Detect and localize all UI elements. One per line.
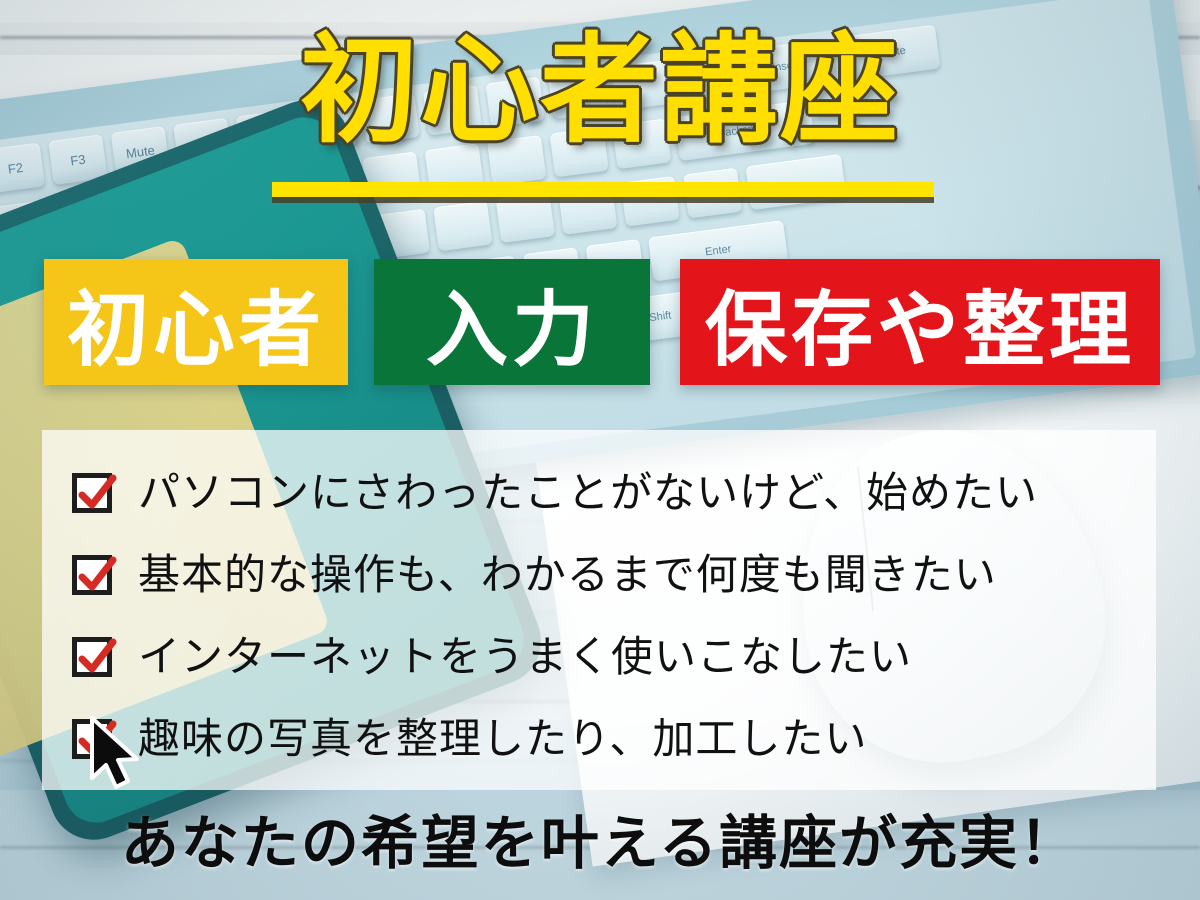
checklist-item-4[interactable]: 趣味の写真を整理したり、加工したい xyxy=(72,698,1152,780)
badge-beginner-label: 初心者 xyxy=(67,263,325,382)
badge-save-organize-label: 保存や整理 xyxy=(705,263,1135,382)
checkbox-checked-icon[interactable] xyxy=(72,473,112,513)
checklist-item-label: 趣味の写真を整理したり、加工したい xyxy=(138,718,867,760)
checklist: パソコンにさわったことがないけど、始めたい 基本的な操作も、わかるまで何度も聞き… xyxy=(72,452,1152,780)
checkbox-checked-icon[interactable] xyxy=(72,637,112,677)
checklist-item-1[interactable]: パソコンにさわったことがないけど、始めたい xyxy=(72,452,1152,534)
checklist-item-label: パソコンにさわったことがないけど、始めたい xyxy=(138,472,1038,514)
badge-input[interactable]: 入力 xyxy=(374,259,650,385)
checklist-item-2[interactable]: 基本的な操作も、わかるまで何度も聞きたい xyxy=(72,534,1152,616)
page-title: 初心者講座 xyxy=(300,28,900,153)
badge-row: 初心者 入力 保存や整理 xyxy=(0,259,1200,385)
checkbox-checked-icon[interactable] xyxy=(72,719,112,759)
badge-beginner[interactable]: 初心者 xyxy=(44,259,348,385)
title-block: 初心者講座 xyxy=(0,28,1200,153)
title-underline-bar xyxy=(272,182,934,197)
badge-input-label: 入力 xyxy=(426,263,598,382)
checklist-item-3[interactable]: インターネットをうまく使いこなしたい xyxy=(72,616,1152,698)
checklist-item-label: 基本的な操作も、わかるまで何度も聞きたい xyxy=(138,554,997,596)
poster-canvas: F1 F2 F3 Mute Insert Delete xyxy=(0,0,1200,900)
checklist-item-label: インターネットをうまく使いこなしたい xyxy=(138,636,912,678)
badge-save-organize[interactable]: 保存や整理 xyxy=(680,259,1160,385)
checkbox-checked-icon[interactable] xyxy=(72,555,112,595)
tagline: あなたの希望を叶える講座が充実！ xyxy=(0,796,1200,880)
